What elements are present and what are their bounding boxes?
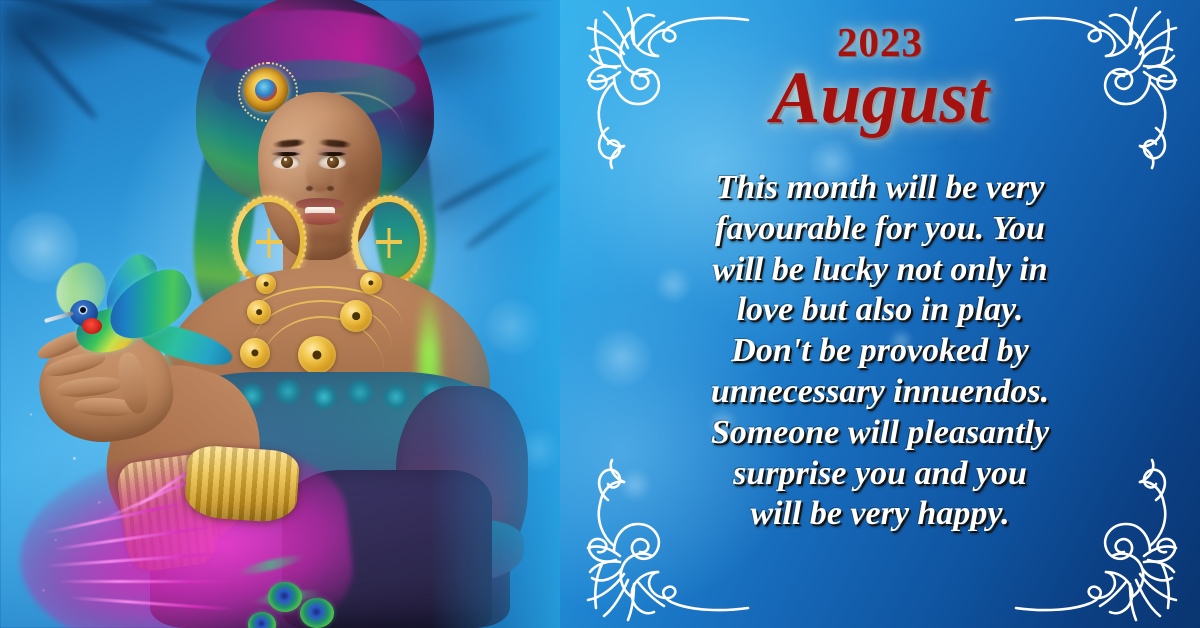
forecast-line: love but also in play. xyxy=(628,290,1132,331)
hummingbird-beak xyxy=(44,311,74,323)
forecast-line: unnecessary innuendos. xyxy=(628,372,1132,413)
iris-left xyxy=(281,156,293,168)
forecast-line: will be lucky not only in xyxy=(628,250,1132,291)
necklace-disc xyxy=(340,300,372,332)
woman-figure xyxy=(0,0,620,628)
eyelash-left xyxy=(271,152,301,156)
month-title: August xyxy=(560,56,1200,141)
necklace-disc xyxy=(360,272,382,294)
gold-belt-ornament xyxy=(184,444,301,524)
forecast-text: This month will be very favourable for y… xyxy=(628,168,1132,535)
peacock-eye-feather xyxy=(300,598,334,628)
necklace-disc xyxy=(256,274,276,294)
forecast-line: This month will be very xyxy=(628,168,1132,209)
eye-left xyxy=(272,155,300,169)
forecast-line: Someone will pleasantly xyxy=(628,413,1132,454)
earring-ornament-right xyxy=(376,228,402,258)
forecast-line: surprise you and you xyxy=(628,454,1132,495)
necklace-disc xyxy=(240,338,270,368)
horoscope-banner: 2023 August This month will be very favo… xyxy=(0,0,1200,628)
necklace-disc xyxy=(247,300,271,324)
earring-ornament-left xyxy=(256,228,282,258)
forecast-line: favourable for you. You xyxy=(628,209,1132,250)
feather-strand xyxy=(58,580,233,583)
forecast-line: Don't be provoked by xyxy=(628,331,1132,372)
hummingbird-eye xyxy=(80,307,86,313)
eyelash-right xyxy=(317,152,347,156)
peacock-eye-feather xyxy=(268,582,302,612)
lower-lip xyxy=(300,213,341,225)
hummingbird-throat xyxy=(82,318,102,334)
nostril-right xyxy=(327,186,334,191)
forecast-panel: 2023 August This month will be very favo… xyxy=(560,0,1200,628)
nostril-left xyxy=(306,186,313,191)
fortune-teller-artwork xyxy=(0,0,620,628)
forecast-line: will be very happy. xyxy=(628,494,1132,535)
